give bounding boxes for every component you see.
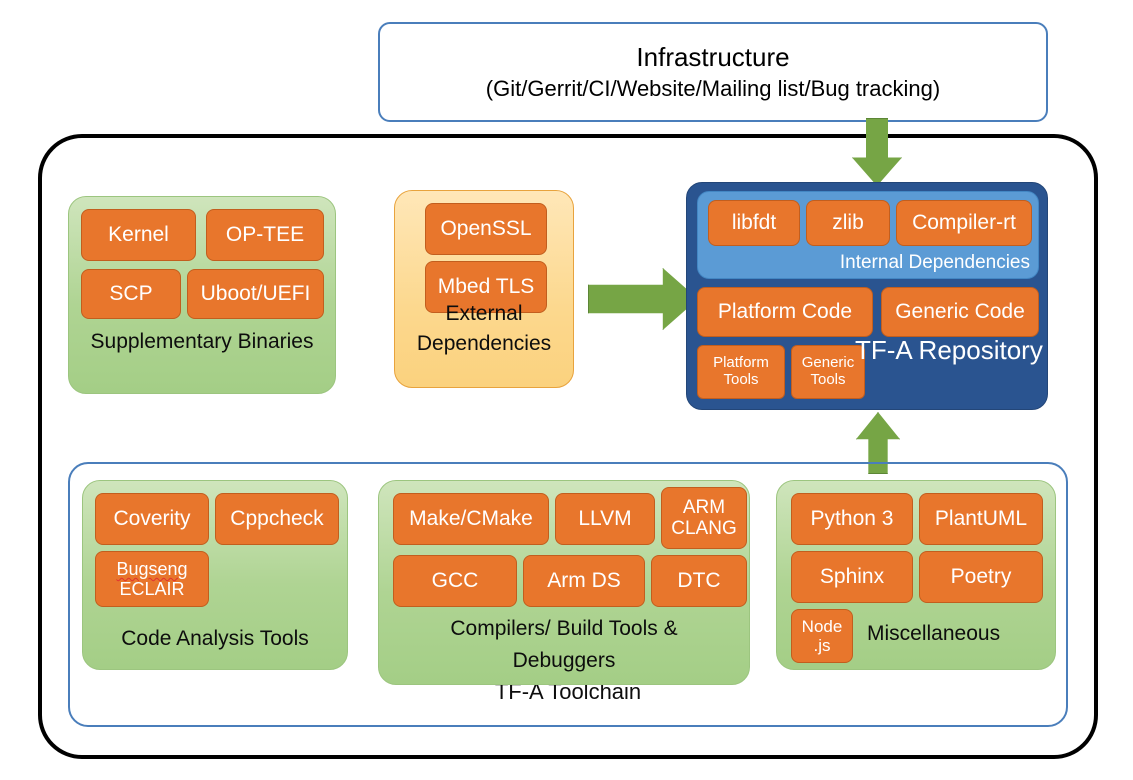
chip-scp[interactable]: SCP [81,269,181,319]
chip-op-tee[interactable]: OP-TEE [206,209,324,261]
external-dependencies-panel: OpenSSL Mbed TLS External Dependencies [394,190,574,388]
chip-plantuml[interactable]: PlantUML [919,493,1043,545]
internal-dependencies-label: Internal Dependencies [840,252,1030,274]
chip-kernel[interactable]: Kernel [81,209,196,261]
arm-clang-line2: CLANG [671,518,736,539]
supplementary-binaries-panel: Kernel OP-TEE SCP Uboot/UEFI Supplementa… [68,196,336,394]
miscellaneous-label: Miscellaneous [867,622,1000,646]
chip-arm-clang[interactable]: ARM CLANG [661,487,747,549]
arm-clang-line1: ARM [683,497,725,518]
eclair-line2: ECLAIR [119,579,184,599]
bugseng-line1: Bugseng [116,559,187,579]
platform-tools-line2: Tools [723,372,758,389]
chip-uboot-uefi[interactable]: Uboot/UEFI [187,269,324,319]
tfa-repository-label: TF-A Repository [855,335,1043,366]
chip-platform-tools[interactable]: Platform Tools [697,345,785,399]
chip-zlib[interactable]: zlib [806,200,890,246]
internal-dependencies-panel: libfdt zlib Compiler-rt Internal Depende… [697,191,1039,279]
chip-generic-tools[interactable]: Generic Tools [791,345,865,399]
chip-compiler-rt[interactable]: Compiler-rt [896,200,1032,246]
chip-coverity[interactable]: Coverity [95,493,209,545]
chip-platform-code[interactable]: Platform Code [697,287,873,337]
chip-libfdt[interactable]: libfdt [708,200,800,246]
chip-sphinx[interactable]: Sphinx [791,551,913,603]
infrastructure-subtitle: (Git/Gerrit/CI/Website/Mailing list/Bug … [486,75,940,103]
code-analysis-tools-panel: Coverity Cppcheck Bugseng ECLAIR Code An… [82,480,348,670]
miscellaneous-panel: Python 3 PlantUML Sphinx Poetry Node .js… [776,480,1056,670]
code-analysis-tools-label: Code Analysis Tools [83,626,347,651]
compilers-build-tools-label-line2: Debuggers [379,648,749,673]
chip-nodejs[interactable]: Node .js [791,609,853,663]
compilers-build-tools-panel: Make/CMake LLVM ARM CLANG GCC Arm DS DTC… [378,480,750,685]
tfa-repository-panel: libfdt zlib Compiler-rt Internal Depende… [686,182,1048,410]
chip-arm-ds[interactable]: Arm DS [523,555,645,607]
chip-llvm[interactable]: LLVM [555,493,655,545]
compilers-build-tools-label-line1: Compilers/ Build Tools & [379,616,749,641]
external-dependencies-label-line2: Dependencies [395,331,573,356]
chip-openssl[interactable]: OpenSSL [425,203,547,255]
platform-tools-line1: Platform [713,355,769,372]
chip-poetry[interactable]: Poetry [919,551,1043,603]
nodejs-line1: Node [802,617,843,636]
chip-gcc[interactable]: GCC [393,555,517,607]
infrastructure-title: Infrastructure [636,41,789,74]
chip-generic-code[interactable]: Generic Code [881,287,1039,337]
chip-make-cmake[interactable]: Make/CMake [393,493,549,545]
infrastructure-box: Infrastructure (Git/Gerrit/CI/Website/Ma… [378,22,1048,122]
generic-tools-line2: Tools [810,372,845,389]
chip-bugseng-eclair[interactable]: Bugseng ECLAIR [95,551,209,607]
chip-cppcheck[interactable]: Cppcheck [215,493,339,545]
external-dependencies-label-line1: External [395,301,573,326]
generic-tools-line1: Generic [802,355,855,372]
nodejs-line2: .js [814,636,831,655]
chip-dtc[interactable]: DTC [651,555,747,607]
supplementary-binaries-label: Supplementary Binaries [69,329,335,354]
chip-python-3[interactable]: Python 3 [791,493,913,545]
